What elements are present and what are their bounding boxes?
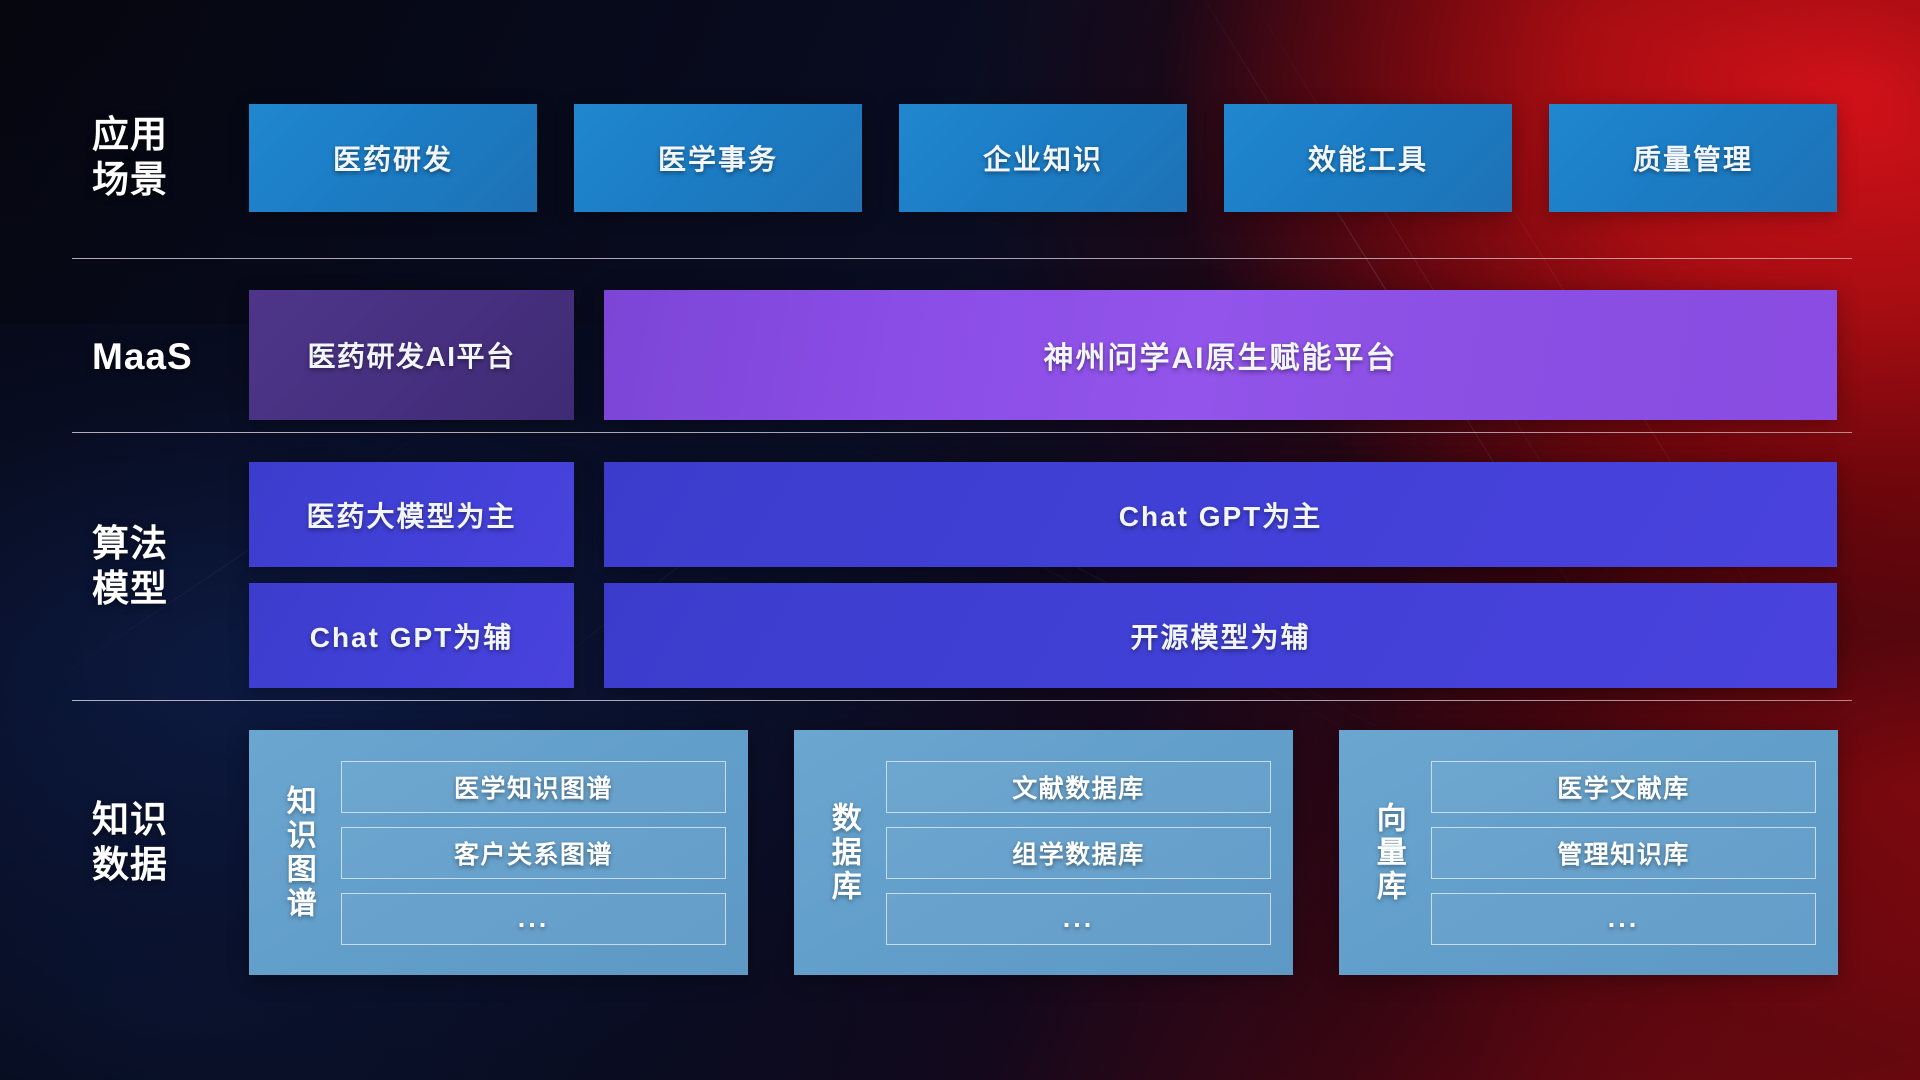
app-box-label: 效能工具 xyxy=(1308,138,1428,178)
knowledge-group-title-text: 向量库 xyxy=(1368,802,1408,904)
maas-box-label: 医药研发AI平台 xyxy=(307,335,515,375)
knowledge-group-title: 向量库 xyxy=(1357,802,1419,904)
knowledge-item[interactable]: 文献数据库 xyxy=(886,761,1271,813)
knowledge-group-title-text: 数据库 xyxy=(823,802,863,904)
algo-box-label: Chat GPT为辅 xyxy=(310,616,514,656)
knowledge-item[interactable]: 医学文献库 xyxy=(1431,761,1816,813)
knowledge-item-label: 管理知识库 xyxy=(1557,835,1690,871)
algo-box-opensource-secondary[interactable]: 开源模型为辅 xyxy=(604,583,1837,688)
app-box-medical-affairs[interactable]: 医学事务 xyxy=(574,104,862,212)
algo-box-label: 开源模型为辅 xyxy=(1130,616,1310,656)
knowledge-item-label: ... xyxy=(518,903,550,934)
knowledge-item-label: 医学文献库 xyxy=(1557,769,1690,805)
knowledge-item-more[interactable]: ... xyxy=(341,893,726,945)
knowledge-item[interactable]: 医学知识图谱 xyxy=(341,761,726,813)
knowledge-item-more[interactable]: ... xyxy=(1431,893,1816,945)
algo-box-medicine-llm-primary[interactable]: 医药大模型为主 xyxy=(249,462,574,567)
app-box-label: 医药研发 xyxy=(333,138,453,178)
app-box-label: 医学事务 xyxy=(658,138,778,178)
row-knowledge-data: 知识图谱 医学知识图谱 客户关系图谱 ... 数据库 文献数据库 xyxy=(0,730,1920,975)
knowledge-item[interactable]: 管理知识库 xyxy=(1431,827,1816,879)
knowledge-item-label: 医学知识图谱 xyxy=(454,769,613,805)
algo-box-chatgpt-primary[interactable]: Chat GPT为主 xyxy=(604,462,1837,567)
knowledge-group-title: 知识图谱 xyxy=(267,785,329,921)
knowledge-item-list: 文献数据库 组学数据库 ... xyxy=(874,761,1277,945)
row-algorithm-models: 医药大模型为主 Chat GPT为主 Chat GPT为辅 开源模型为辅 xyxy=(0,462,1920,692)
app-box-label: 企业知识 xyxy=(983,138,1103,178)
knowledge-item-label: ... xyxy=(1608,903,1640,934)
knowledge-item[interactable]: 组学数据库 xyxy=(886,827,1271,879)
divider-algorithm-knowledge xyxy=(72,700,1852,701)
row-maas: 医药研发AI平台 神州问学AI原生赋能平台 xyxy=(0,290,1920,420)
row-applications: 医药研发 医学事务 企业知识 效能工具 质量管理 xyxy=(0,104,1920,212)
knowledge-item-label: ... xyxy=(1063,903,1095,934)
app-box-label: 质量管理 xyxy=(1633,138,1753,178)
divider-applications-maas xyxy=(72,258,1852,259)
knowledge-item-list: 医学知识图谱 客户关系图谱 ... xyxy=(329,761,732,945)
knowledge-item[interactable]: 客户关系图谱 xyxy=(341,827,726,879)
knowledge-item-label: 组学数据库 xyxy=(1012,835,1145,871)
architecture-diagram: 应用 场景 医药研发 医学事务 企业知识 效能工具 质量管理 MaaS 医药研发… xyxy=(0,0,1920,1080)
algo-box-label: 医药大模型为主 xyxy=(306,495,516,535)
maas-box-medicine-ai-platform[interactable]: 医药研发AI平台 xyxy=(249,290,574,420)
maas-box-label: 神州问学AI原生赋能平台 xyxy=(1044,333,1398,377)
algo-box-chatgpt-secondary[interactable]: Chat GPT为辅 xyxy=(249,583,574,688)
knowledge-group-title-text: 知识图谱 xyxy=(278,785,318,921)
knowledge-group-vector[interactable]: 向量库 医学文献库 管理知识库 ... xyxy=(1339,730,1838,975)
app-box-quality-management[interactable]: 质量管理 xyxy=(1549,104,1837,212)
algo-box-label: Chat GPT为主 xyxy=(1119,495,1323,535)
app-box-efficiency-tools[interactable]: 效能工具 xyxy=(1224,104,1512,212)
knowledge-group-database[interactable]: 数据库 文献数据库 组学数据库 ... xyxy=(794,730,1293,975)
knowledge-group-graph[interactable]: 知识图谱 医学知识图谱 客户关系图谱 ... xyxy=(249,730,748,975)
knowledge-item-label: 客户关系图谱 xyxy=(454,835,613,871)
knowledge-item-list: 医学文献库 管理知识库 ... xyxy=(1419,761,1822,945)
knowledge-item-more[interactable]: ... xyxy=(886,893,1271,945)
app-box-medicine-rd[interactable]: 医药研发 xyxy=(249,104,537,212)
knowledge-group-title: 数据库 xyxy=(812,802,874,904)
maas-box-shenzhou-wenxue-platform[interactable]: 神州问学AI原生赋能平台 xyxy=(604,290,1837,420)
divider-maas-algorithm xyxy=(72,432,1852,433)
app-box-enterprise-knowledge[interactable]: 企业知识 xyxy=(899,104,1187,212)
knowledge-item-label: 文献数据库 xyxy=(1012,769,1145,805)
